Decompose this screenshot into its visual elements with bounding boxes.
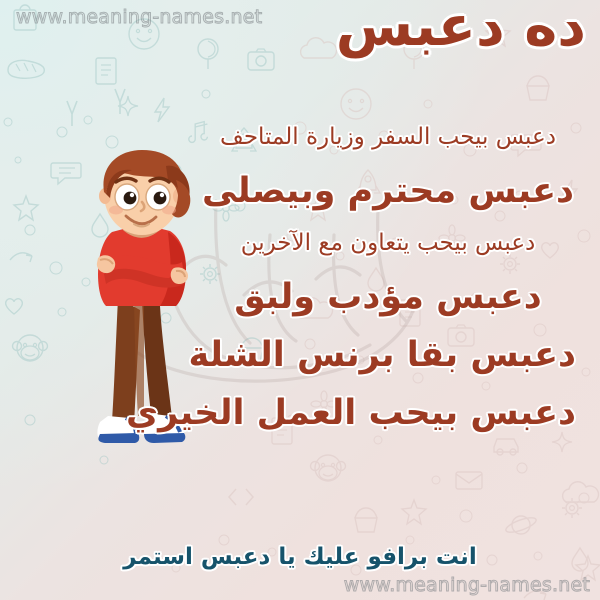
- watermark-top: www.meaning-names.net: [16, 6, 262, 28]
- footer-message: انت برافو عليك يا دعبس استمر: [0, 544, 600, 570]
- phrase-item: دعبس بيحب السفر وزيارة المتاحف: [200, 126, 576, 149]
- phrase-item: دعبس بيحب العمل الخيري: [200, 396, 576, 431]
- watermark-bottom: www.meaning-names.net: [344, 574, 590, 596]
- phrase-item: دعبس محترم وبيصلى: [200, 174, 576, 209]
- phrase-item: دعبس بيحب يتعاون مع الآخرين: [200, 232, 576, 255]
- phrase-item: دعبس مؤدب ولبق: [200, 280, 576, 315]
- phrase-list: دعبس بيحب السفر وزيارة المتاحف دعبس محتر…: [200, 126, 576, 454]
- name-meaning-card: ده دعبس www.meaning-names.net www.meanin…: [0, 0, 600, 600]
- phrase-item: دعبس بقا برنس الشلة: [200, 338, 576, 373]
- page-title: ده دعبس: [336, 0, 586, 57]
